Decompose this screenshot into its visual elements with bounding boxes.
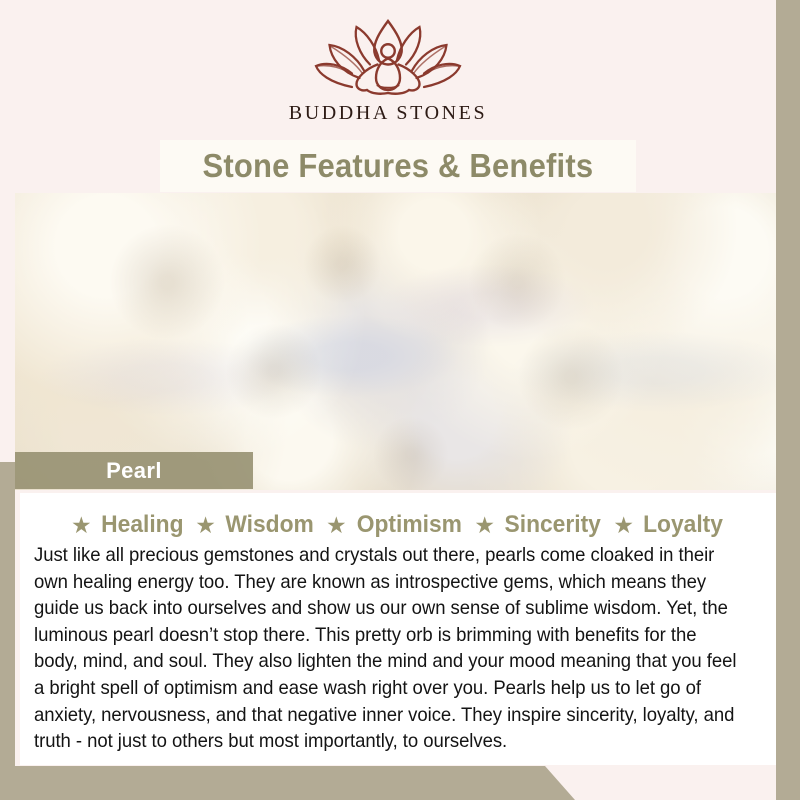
content-panel: ★ Healing ★ Wisdom ★ Optimism ★ Sincerit… [20, 493, 776, 765]
benefit-label: Wisdom [225, 511, 313, 539]
brand-name: BUDDHA STONES [289, 102, 487, 125]
star-icon: ★ [326, 514, 347, 537]
photo-shadow-layer [15, 193, 776, 490]
star-icon: ★ [474, 514, 495, 537]
stone-description: Just like all precious gemstones and cry… [34, 543, 737, 756]
benefit-item-wisdom: ★ Wisdom [195, 511, 316, 539]
benefit-item-healing: ★ Healing [71, 511, 185, 539]
infographic-card: BUDDHA STONES Stone Features & Benefits … [0, 0, 800, 800]
frame-accent-left [0, 462, 15, 800]
star-icon: ★ [71, 514, 92, 537]
benefit-item-optimism: ★ Optimism [326, 511, 464, 539]
pearl-photo [15, 193, 776, 490]
brand-header: BUDDHA STONES [0, 0, 776, 140]
benefit-item-sincerity: ★ Sincerity [474, 511, 603, 539]
star-icon: ★ [195, 514, 216, 537]
title-banner: Stone Features & Benefits [160, 140, 636, 192]
benefits-list: ★ Healing ★ Wisdom ★ Optimism ★ Sincerit… [34, 511, 762, 539]
benefit-item-loyalty: ★ Loyalty [613, 511, 725, 539]
benefit-label: Optimism [356, 511, 461, 539]
benefit-label: Healing [101, 511, 183, 539]
stone-name: Pearl [106, 458, 162, 484]
frame-accent-bottom [0, 766, 575, 800]
benefit-label: Sincerity [505, 511, 601, 539]
lotus-meditation-icon [313, 18, 463, 96]
frame-accent-top-right [776, 0, 800, 14]
page-title: Stone Features & Benefits [203, 147, 594, 185]
frame-accent-right [776, 14, 800, 800]
stone-name-bar: Pearl [15, 452, 253, 489]
benefit-label: Loyalty [643, 511, 723, 539]
star-icon: ★ [613, 514, 634, 537]
